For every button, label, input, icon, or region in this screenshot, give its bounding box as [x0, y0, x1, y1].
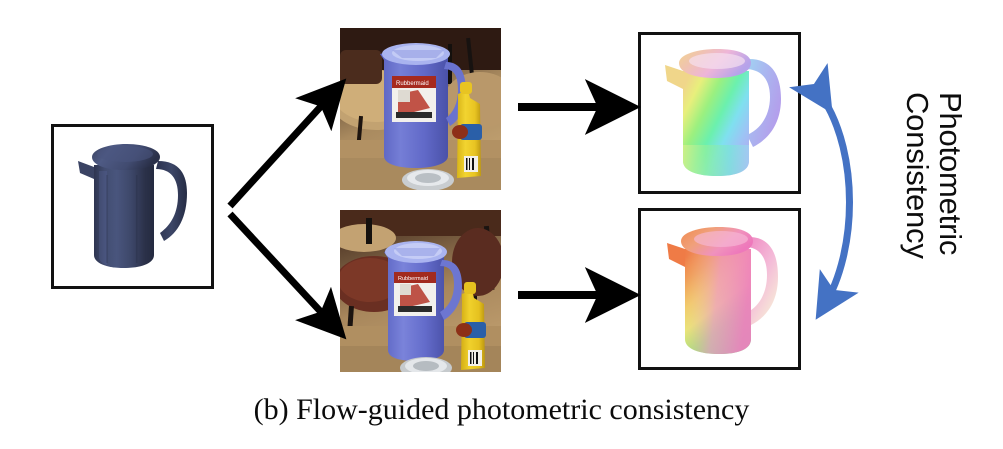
predict-arrow-top: [516, 92, 634, 122]
source-model-panel: [51, 124, 214, 289]
observation-photo-bottom: Rubbermaid: [340, 210, 501, 372]
photo-scene-view-2: Rubbermaid: [340, 210, 501, 372]
correspondence-map-view-2: [641, 211, 798, 367]
source-model-canvas: [54, 127, 211, 286]
flow-map-canvas-top: [641, 35, 798, 191]
photo-scene-view-1: Rubbermaid: [340, 28, 501, 190]
observation-photo-top: Rubbermaid: [340, 28, 501, 190]
predict-arrow-bottom: [516, 280, 634, 310]
pitcher-render-3d: [54, 127, 211, 286]
figure-caption: (b) Flow-guided photometric consistency: [0, 393, 1003, 427]
figure-flow-guided-photometric-consistency: Rubbermaid: [0, 0, 1003, 449]
svg-text:Rubbermaid: Rubbermaid: [398, 276, 428, 282]
photometric-consistency-label: Photometric Consistency: [900, 92, 966, 259]
correspondence-map-view-1: [641, 35, 798, 191]
consistency-curved-arrow: [806, 78, 884, 328]
label-line-1: Photometric: [933, 92, 968, 255]
branch-arrow-up-right: [226, 78, 344, 210]
flow-map-panel-bottom: [638, 208, 801, 370]
label-line-2: Consistency: [900, 92, 935, 259]
flow-map-canvas-bottom: [641, 211, 798, 367]
svg-text:Rubbermaid: Rubbermaid: [396, 81, 429, 87]
branch-arrow-down-right: [226, 206, 344, 338]
flow-map-panel-top: [638, 32, 801, 194]
